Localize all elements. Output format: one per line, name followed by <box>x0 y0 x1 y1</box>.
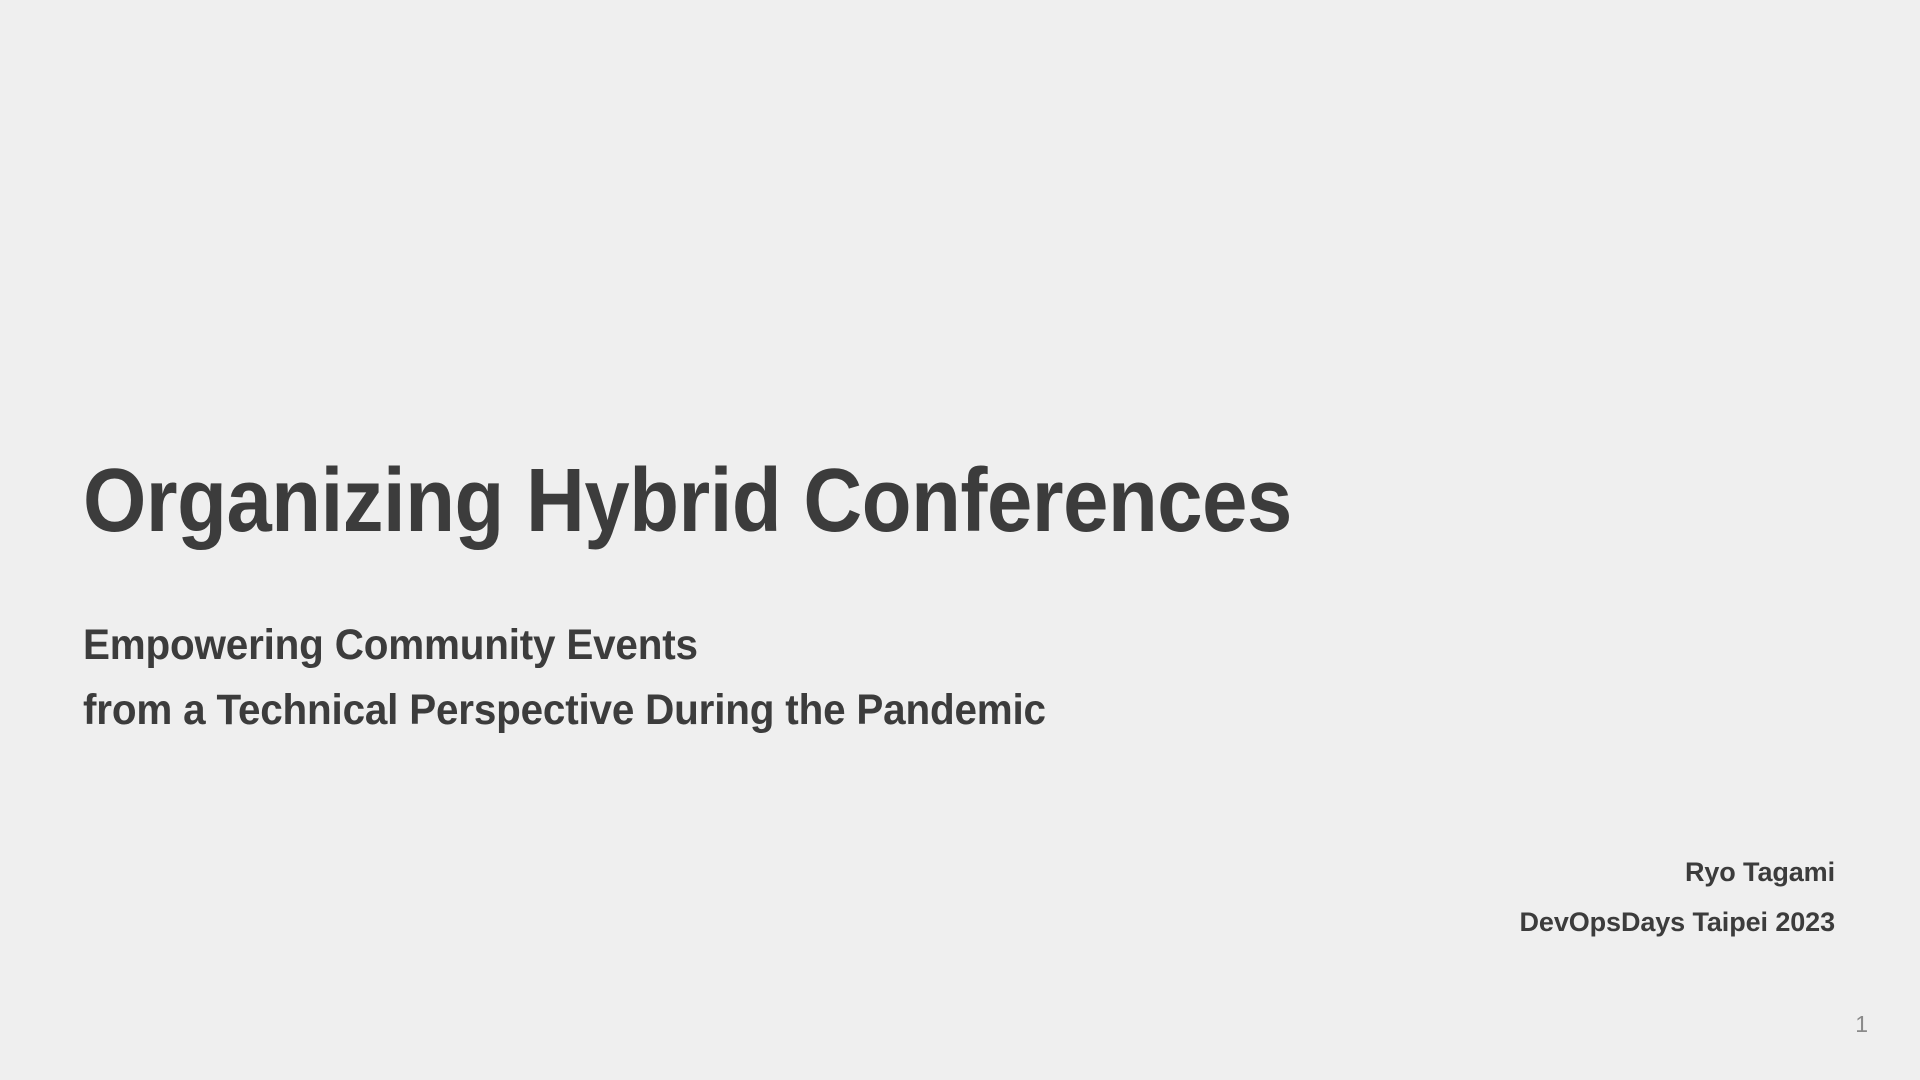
subtitle-block: Empowering Community Events from a Techn… <box>83 613 1783 742</box>
presentation-slide: Organizing Hybrid Conferences Empowering… <box>0 0 1920 1080</box>
page-number: 1 <box>1855 1013 1868 1036</box>
event-name: DevOpsDays Taipei 2023 <box>1520 898 1835 948</box>
author-name: Ryo Tagami <box>1520 848 1835 898</box>
subtitle-line-2: from a Technical Perspective During the … <box>83 678 1681 743</box>
author-block: Ryo Tagami DevOpsDays Taipei 2023 <box>1520 848 1835 948</box>
subtitle-line-1: Empowering Community Events <box>83 613 1681 678</box>
page-title: Organizing Hybrid Conferences <box>83 455 1622 549</box>
title-block: Organizing Hybrid Conferences <box>83 455 1783 549</box>
